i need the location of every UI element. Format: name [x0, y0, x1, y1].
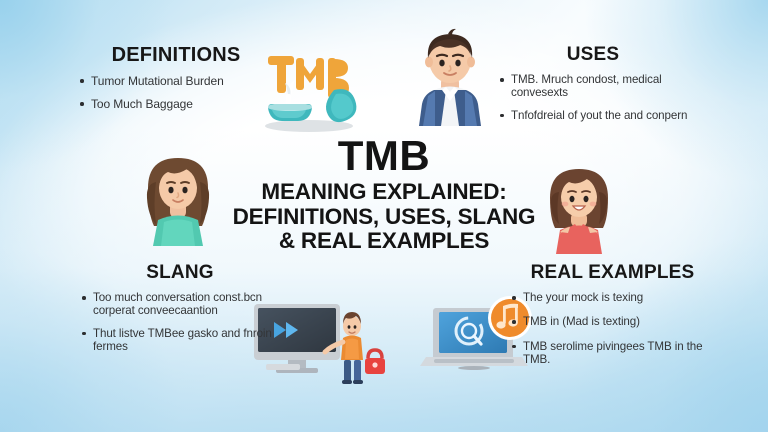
page-title: TMB MEANING EXPLAINED: DEFINITIONS, USES…	[219, 136, 549, 254]
uses-bullet-list: TMB. Mruch condost, medical convesexts T…	[498, 73, 688, 122]
list-item: TMB. Mruch condost, medical convesexts	[498, 73, 688, 100]
definitions-heading: DEFINITIONS	[78, 44, 274, 67]
list-item: The your mock is texing	[510, 291, 715, 304]
list-item: Too much conversation const.bcn corperat…	[80, 291, 280, 318]
slang-heading: SLANG	[80, 262, 280, 284]
title-line-2: DEFINITIONS, USES, SLANG	[219, 205, 549, 230]
female-avatar	[134, 152, 222, 248]
section-real-examples: REAL EXAMPLES The your mock is texing TM…	[510, 262, 715, 378]
list-item: TMB serolime pivingees TMB in the TMB.	[510, 340, 715, 367]
list-item: Too Much Baggage	[78, 97, 274, 111]
male-avatar	[404, 26, 496, 130]
list-item: TMB in (Mad is texting)	[510, 315, 715, 328]
infographic-canvas: DEFINITIONS Tumor Mutational Burden Too …	[0, 0, 768, 432]
list-item: Tnfofdreial of yout the and conpern	[498, 109, 688, 122]
real-examples-heading: REAL EXAMPLES	[510, 262, 715, 284]
uses-heading: USES	[498, 44, 688, 66]
section-uses: USES TMB. Mruch condost, medical convese…	[498, 44, 688, 131]
title-line-3: & REAL EXAMPLES	[219, 229, 549, 254]
list-item: Thut listve TMBee gasko and fnroin ferme…	[80, 327, 280, 354]
real-examples-bullet-list: The your mock is texing TMB in (Mad is t…	[510, 291, 715, 367]
section-slang: SLANG Too much conversation const.bcn co…	[80, 262, 280, 363]
section-definitions: DEFINITIONS Tumor Mutational Burden Too …	[78, 44, 274, 120]
list-item: Tumor Mutational Burden	[78, 74, 274, 88]
definitions-bullet-list: Tumor Mutational Burden Too Much Baggage	[78, 74, 274, 111]
slang-bullet-list: Too much conversation const.bcn corperat…	[80, 291, 280, 354]
title-acronym: TMB	[219, 136, 549, 176]
title-line-1: MEANING EXPLAINED:	[219, 180, 549, 205]
